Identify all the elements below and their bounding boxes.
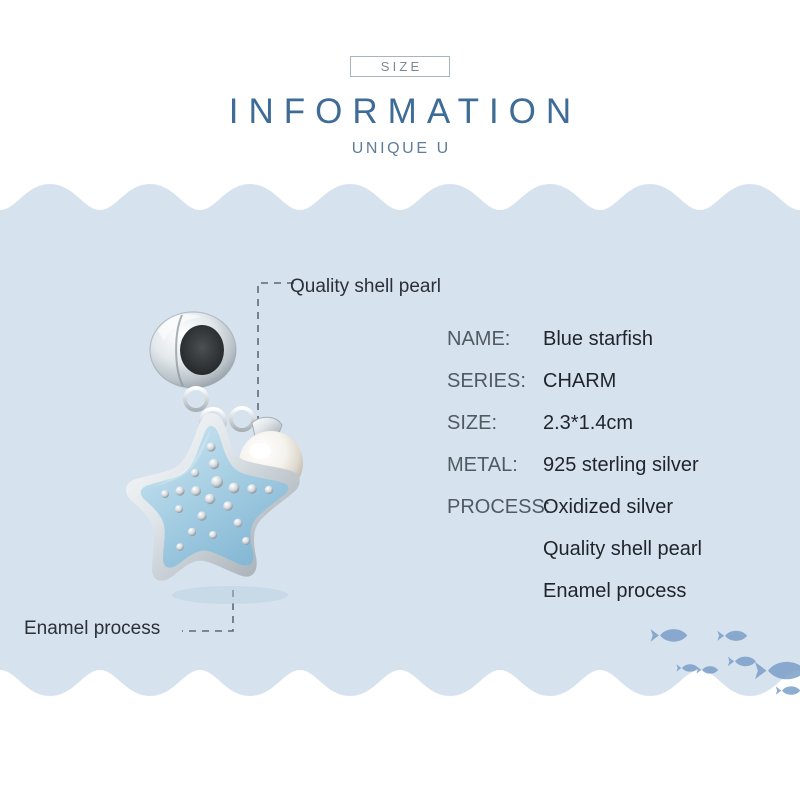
- spec-value-metal: 925 sterling silver: [543, 454, 699, 477]
- spec-key-metal: METAL:: [447, 454, 543, 477]
- spec-row-metal: METAL: 925 sterling silver: [447, 454, 777, 496]
- spec-row-series: SERIES: CHARM: [447, 370, 777, 412]
- spec-key-process: PROCESS:: [447, 496, 543, 519]
- product-info-graphic: SIZE INFORMATION UNIQUE U Quality shell …: [0, 0, 800, 800]
- fish-icon: [728, 657, 756, 667]
- spec-row-name: NAME: Blue starfish: [447, 328, 777, 370]
- fish-icon: [696, 666, 718, 673]
- spec-value-name: Blue starfish: [543, 328, 653, 351]
- spec-process-extra-1: Quality shell pearl: [447, 538, 777, 580]
- spec-list: NAME: Blue starfish SERIES: CHARM SIZE: …: [447, 328, 777, 622]
- product-shadow: [172, 586, 288, 604]
- fish-icon: [676, 664, 698, 671]
- fish-icon: [755, 662, 800, 679]
- charm-bail: [150, 312, 236, 388]
- spec-key-series: SERIES:: [447, 370, 543, 393]
- spec-key-size: SIZE:: [447, 412, 543, 435]
- page-subtitle: UNIQUE U: [0, 140, 800, 158]
- spec-value-series: CHARM: [543, 370, 616, 393]
- spec-row-size: SIZE: 2.3*1.4cm: [447, 412, 777, 454]
- header: SIZE INFORMATION UNIQUE U: [0, 0, 800, 197]
- spec-value-process: Oxidized silver: [543, 496, 673, 519]
- spec-row-process: PROCESS: Oxidized silver: [447, 496, 777, 538]
- fish-icon: [776, 686, 800, 694]
- fish-icon: [717, 631, 747, 641]
- size-badge: SIZE: [350, 56, 450, 77]
- product-image-starfish-charm: [110, 295, 340, 625]
- decorative-fish-school: [630, 615, 800, 710]
- spec-value-size: 2.3*1.4cm: [543, 412, 633, 435]
- spec-key-name: NAME:: [447, 328, 543, 351]
- fish-icon: [651, 629, 688, 642]
- page-title: INFORMATION: [0, 92, 800, 132]
